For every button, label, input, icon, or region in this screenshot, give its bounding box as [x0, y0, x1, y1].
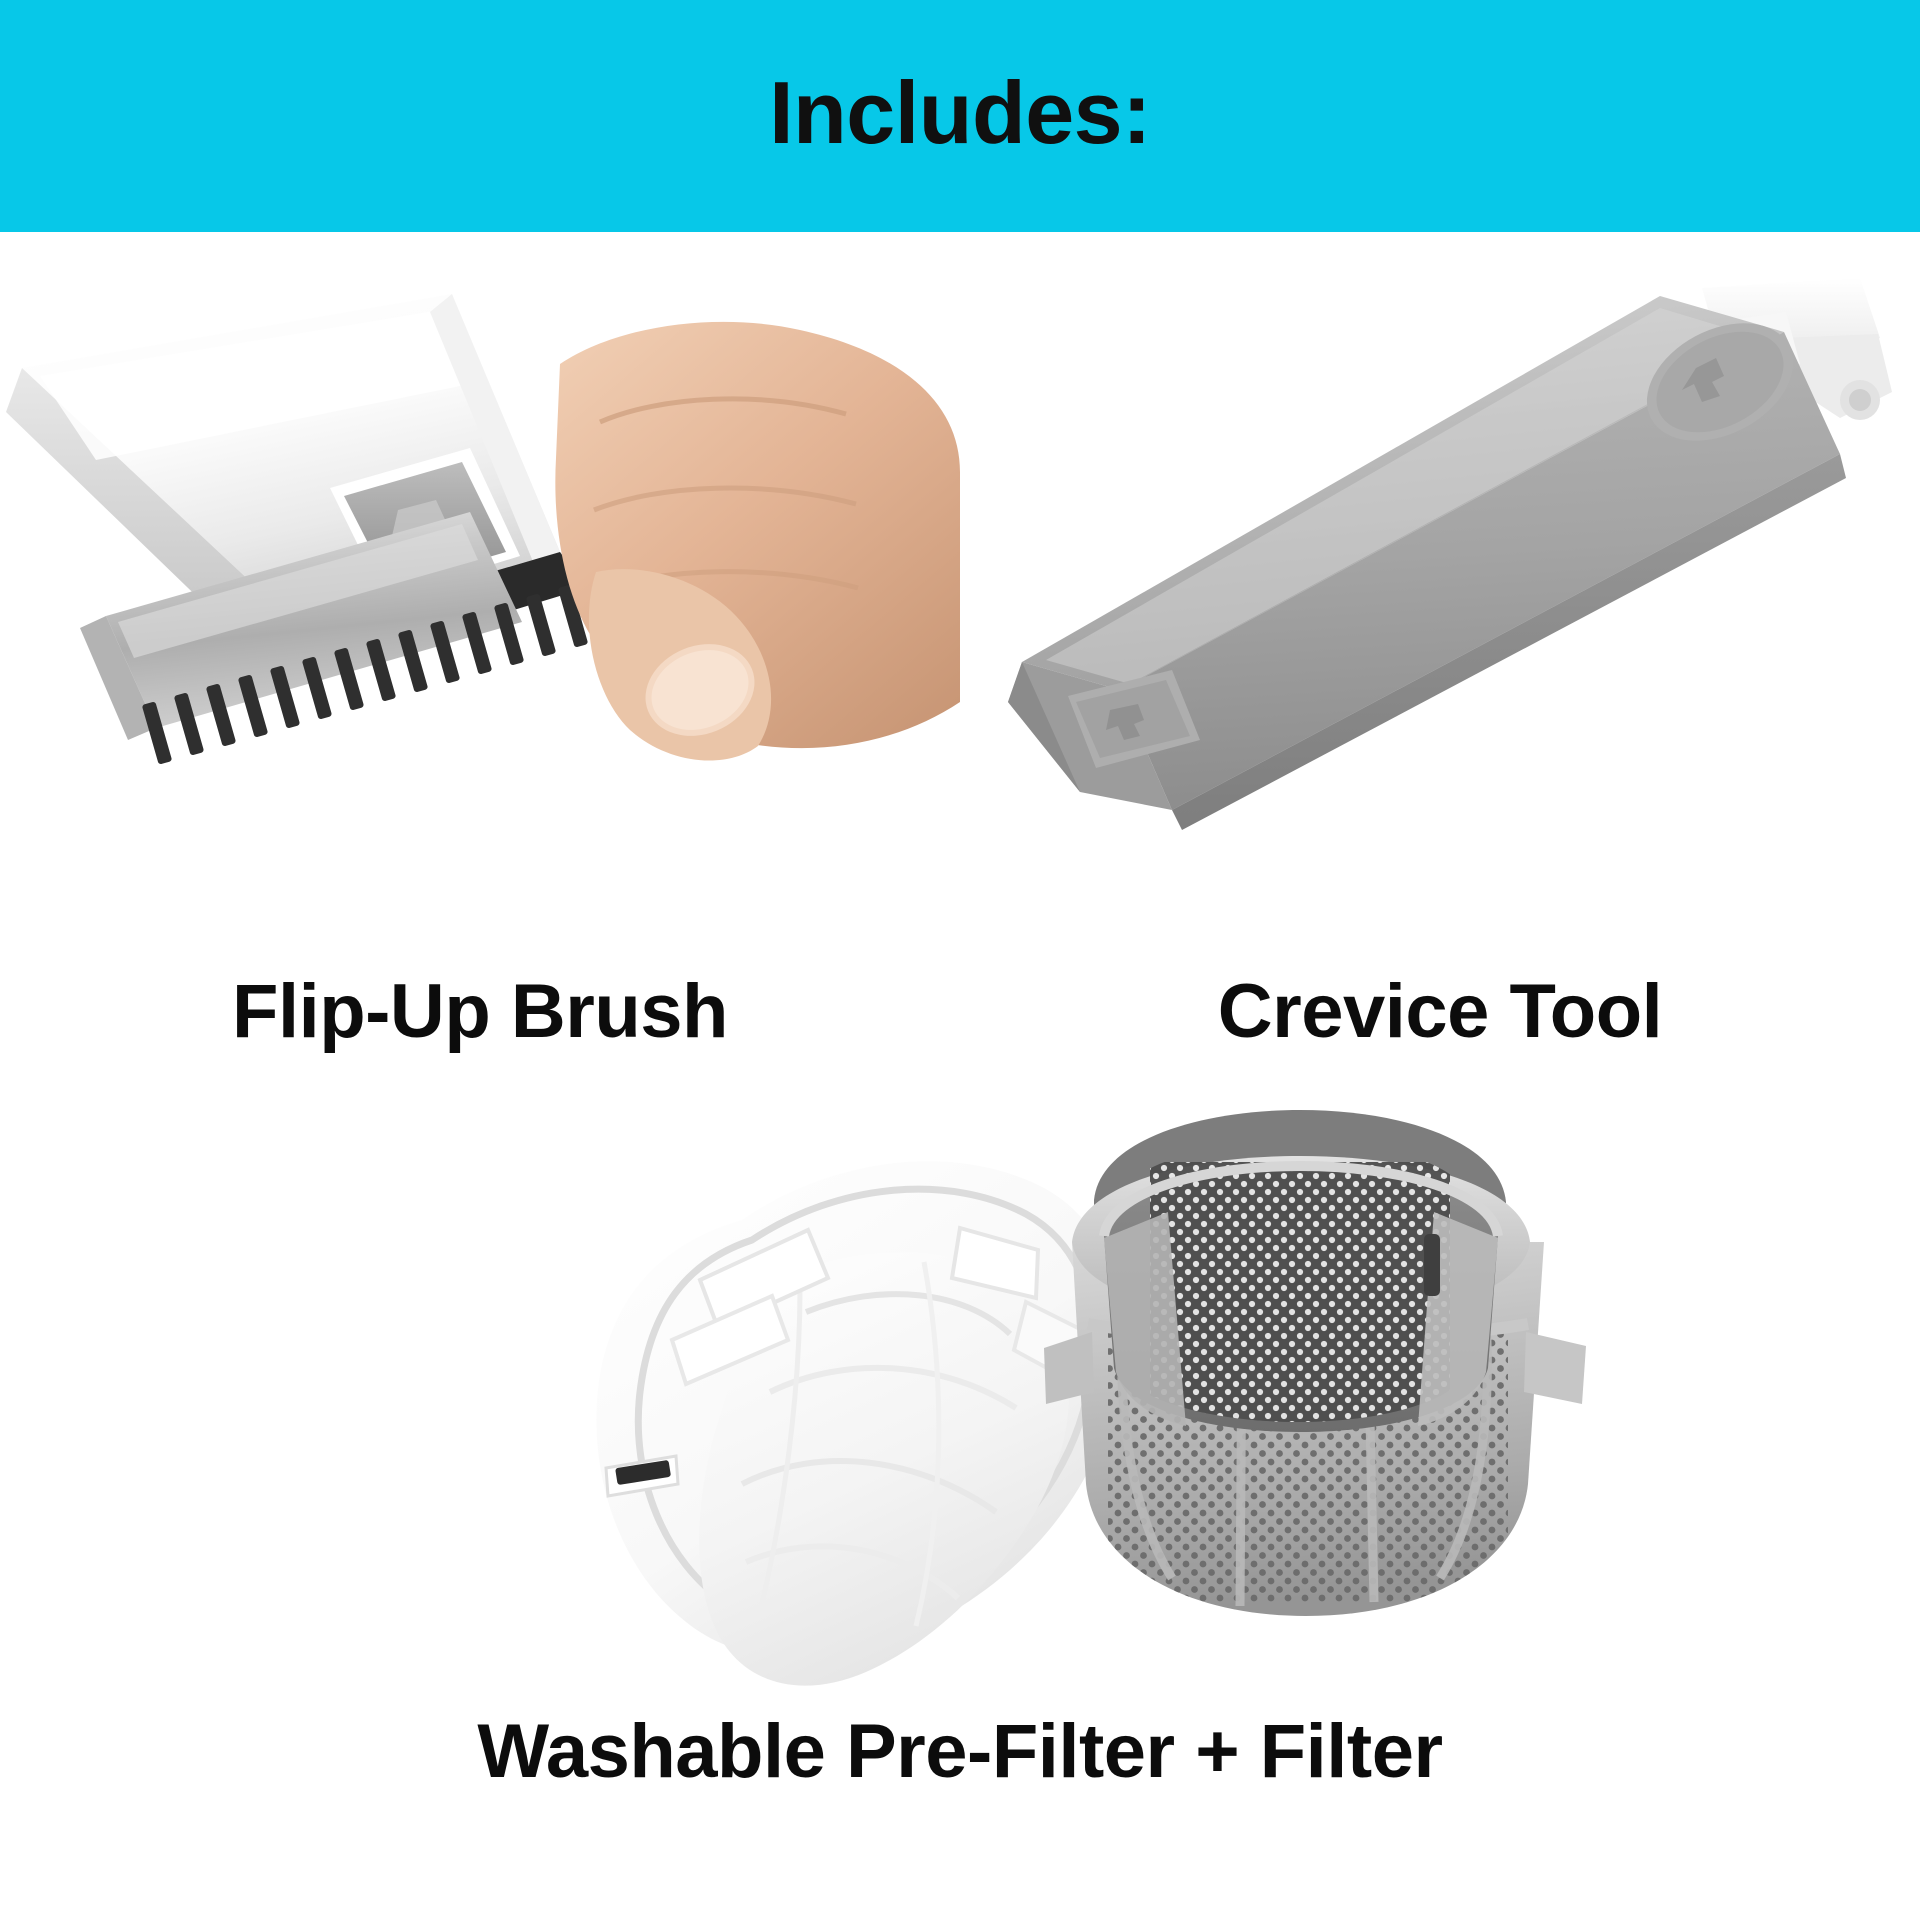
washable-pre-filter [596, 1161, 1121, 1685]
item-crevice-tool: Crevice Tool [960, 232, 1920, 1092]
flip-up-brush-caption: Flip-Up Brush [0, 974, 960, 1050]
filter-inner-mesh [1150, 1162, 1450, 1432]
washable-filter-image [0, 1092, 1920, 1692]
washable-filter-illustration [0, 1092, 1920, 1692]
item-flip-up-brush: Flip-Up Brush [0, 232, 960, 1092]
flip-up-brush-illustration [0, 272, 960, 832]
crevice-tool-image [960, 272, 1920, 832]
flip-up-brush-image [0, 272, 960, 832]
filter-basket [1044, 1110, 1586, 1616]
washable-filter-caption: Washable Pre-Filter + Filter [0, 1714, 1920, 1790]
top-items-row: Flip-Up Brush [0, 232, 1920, 1092]
hand [555, 322, 960, 761]
product-includes-infographic: Includes: [0, 0, 1920, 1920]
crevice-tool-caption: Crevice Tool [960, 974, 1920, 1050]
page-title: Includes: [769, 69, 1151, 157]
item-washable-pre-filter-and-filter: Washable Pre-Filter + Filter [0, 1092, 1920, 1920]
crevice-tool-illustration [960, 272, 1920, 832]
includes-banner: Includes: [0, 0, 1920, 232]
